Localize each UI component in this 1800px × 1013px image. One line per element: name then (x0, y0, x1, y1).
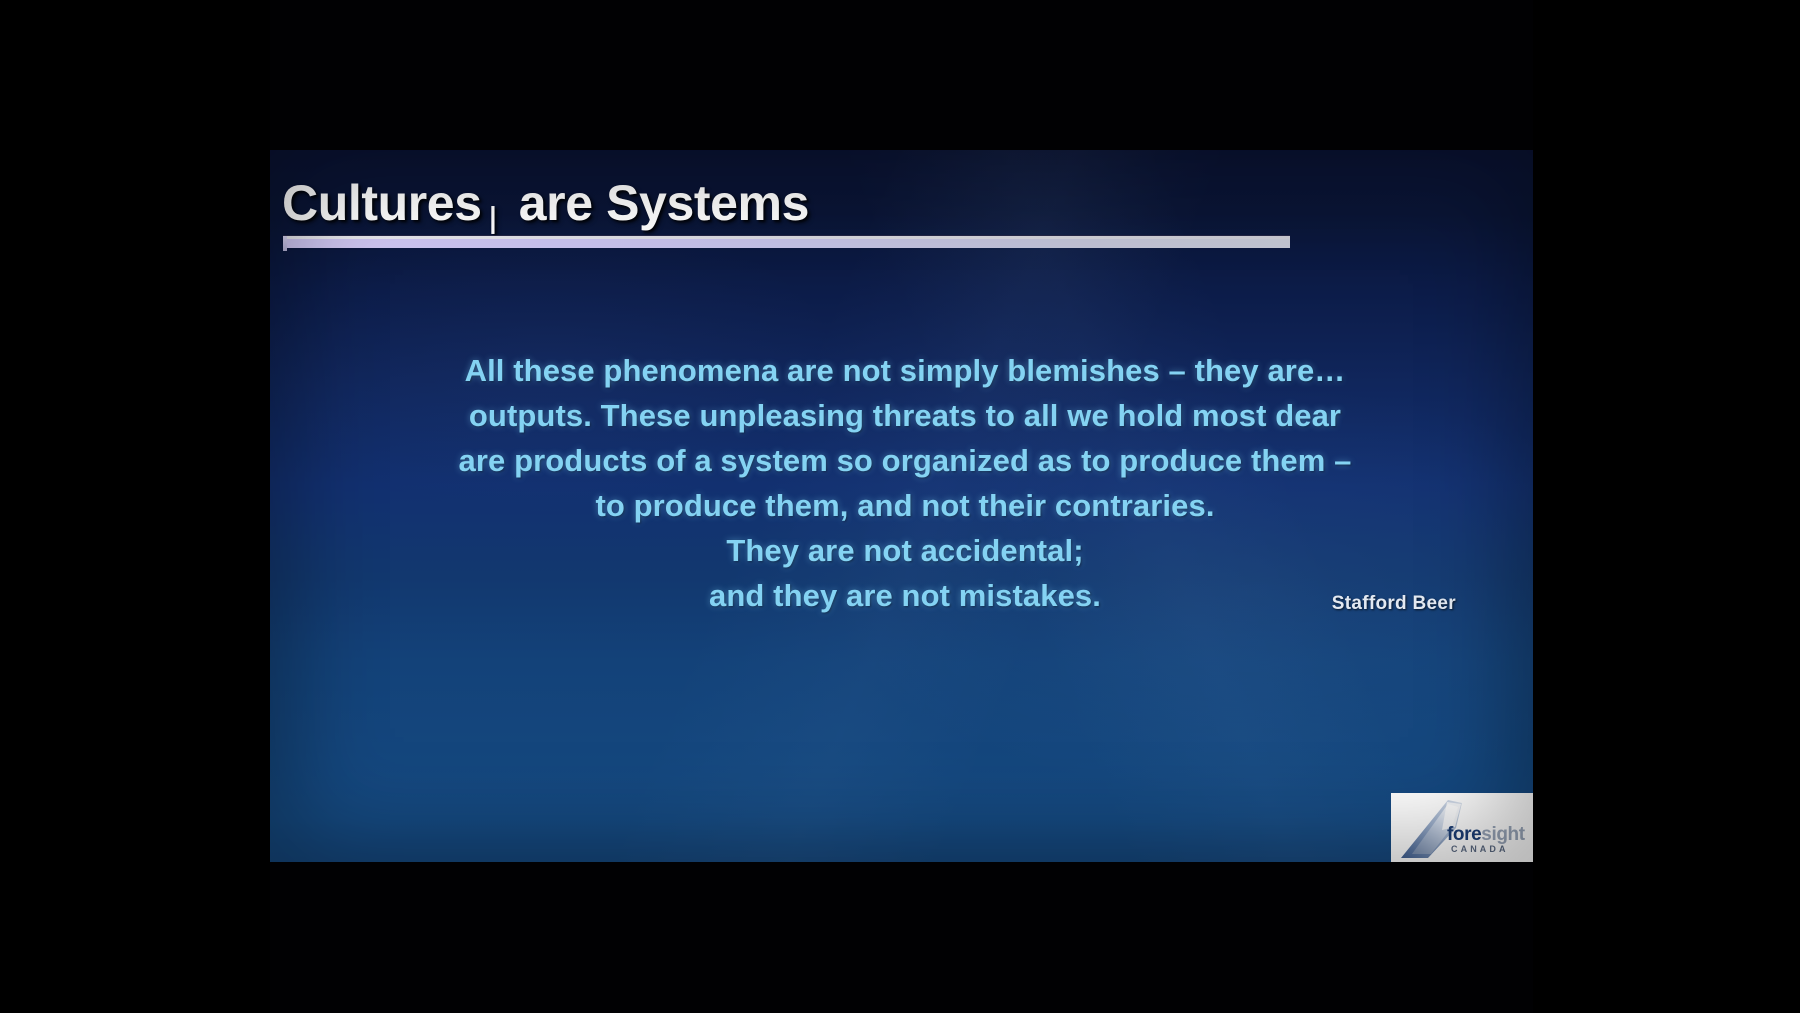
slide-title-text-main: Cultures (282, 175, 482, 231)
title-divider-body (283, 239, 1290, 248)
logo-subtitle-canada: CANADA (1451, 844, 1509, 854)
slide-title: Cultures❘ are Systems (282, 174, 1482, 234)
quote-line: to produce them, and not their contrarie… (330, 483, 1480, 528)
quote-line: All these phenomena are not simply blemi… (330, 348, 1480, 393)
logo-word-fore: fore (1447, 824, 1481, 845)
quote-line: They are not accidental; (330, 528, 1480, 573)
quote-attribution: Stafford Beer (270, 593, 1456, 615)
slide-title-subscript-mark: ❘ (482, 203, 505, 233)
quote-line: are products of a system so organized as… (330, 438, 1480, 483)
presentation-slide: Cultures❘ are Systems All these phenomen… (270, 150, 1533, 862)
title-divider-left-cap (283, 236, 287, 251)
title-divider-rule (283, 236, 1290, 251)
foresight-canada-logo: foresight CANADA (1391, 793, 1533, 862)
foresight-wordmark: foresight (1447, 825, 1531, 844)
screenshot-root: Cultures❘ are Systems All these phenomen… (0, 0, 1800, 1013)
slide-title-text-rest: are Systems (505, 175, 809, 231)
quote-line: outputs. These unpleasing threats to all… (330, 393, 1480, 438)
logo-word-sight: sight (1481, 824, 1524, 845)
quote-text-block: All these phenomena are not simply blemi… (330, 348, 1480, 618)
